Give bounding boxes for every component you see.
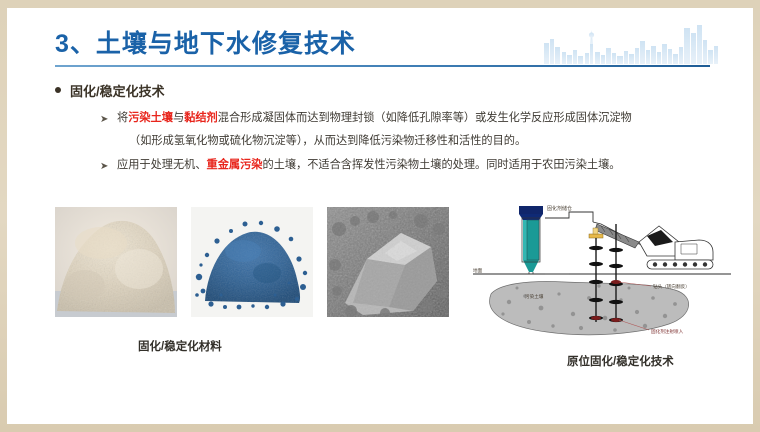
bullet-1-post: 混合形成凝固体而达到物理封锁（如降低孔隙率等）或发生化学反应形成固体沉淀物 [218, 112, 632, 124]
section-heading-label: 固化/稳定化技术 [70, 84, 165, 99]
bullet-1-pre: 将 [117, 112, 128, 124]
bullet-1-mid: 与 [173, 112, 184, 124]
bullet-2-highlight-1: 重金属污染 [207, 159, 263, 171]
diagram-label-soil: 污染土壤 [525, 293, 544, 300]
slide-canvas: 3、土壤与地下水修复技术 [7, 8, 753, 424]
section-heading: 固化/稳定化技术 [55, 81, 165, 100]
beige-powder-photo [55, 207, 177, 317]
sem-micrograph-photo [327, 207, 449, 317]
in-situ-solidification-diagram: 固化剂储仓 地面 污染土壤 钻头（转向翻反） 固化剂注射喷入 [469, 198, 735, 346]
bullet-1-line-2: （如形成氢氧化物或硫化物沉淀等），从而达到降低污染物迁移性和活性的目的。 [129, 132, 526, 151]
bullet-1-highlight-2: 黏结剂 [184, 112, 218, 124]
left-figure-caption: 固化/稳定化材料 [138, 338, 222, 354]
diagram-label-drill-bit: 钻头（转向翻反） [653, 283, 690, 290]
diagram-label-injection: 固化剂注射喷入 [651, 328, 684, 335]
diagram-label-ground: 地面 [473, 267, 483, 274]
page-title: 3、土壤与地下水修复技术 [55, 24, 356, 60]
bullet-dot-icon [55, 87, 61, 93]
title-zone: 3、土壤与地下水修复技术 [7, 8, 753, 70]
blue-powder-photo [191, 207, 313, 317]
city-skyline-icon [542, 22, 722, 66]
bullet-2-pre: 应用于处理无机、 [117, 159, 207, 171]
bullet-1-highlight-1: 污染土壤 [128, 112, 173, 124]
bullet-2-post: 的土壤，不适合含挥发性污染物土壤的处理。同时适用于农田污染土壤。 [262, 159, 620, 171]
right-figure-caption: 原位固化/稳定化技术 [567, 353, 674, 369]
bullet-1-line-1: ➤ 将污染土壤与黏结剂混合形成凝固体而达到物理封锁（如降低孔隙率等）或发生化学反… [117, 109, 632, 128]
slide-border-frame: 3、土壤与地下水修复技术 [0, 0, 760, 432]
bullet-2-line-1: ➤ 应用于处理无机、重金属污染的土壤，不适合含挥发性污染物土壤的处理。同时适用于… [117, 156, 620, 175]
diagram-label-silo: 固化剂储仓 [547, 205, 572, 212]
arrow-bullet-icon: ➤ [100, 110, 108, 129]
arrow-bullet-icon: ➤ [100, 157, 108, 176]
